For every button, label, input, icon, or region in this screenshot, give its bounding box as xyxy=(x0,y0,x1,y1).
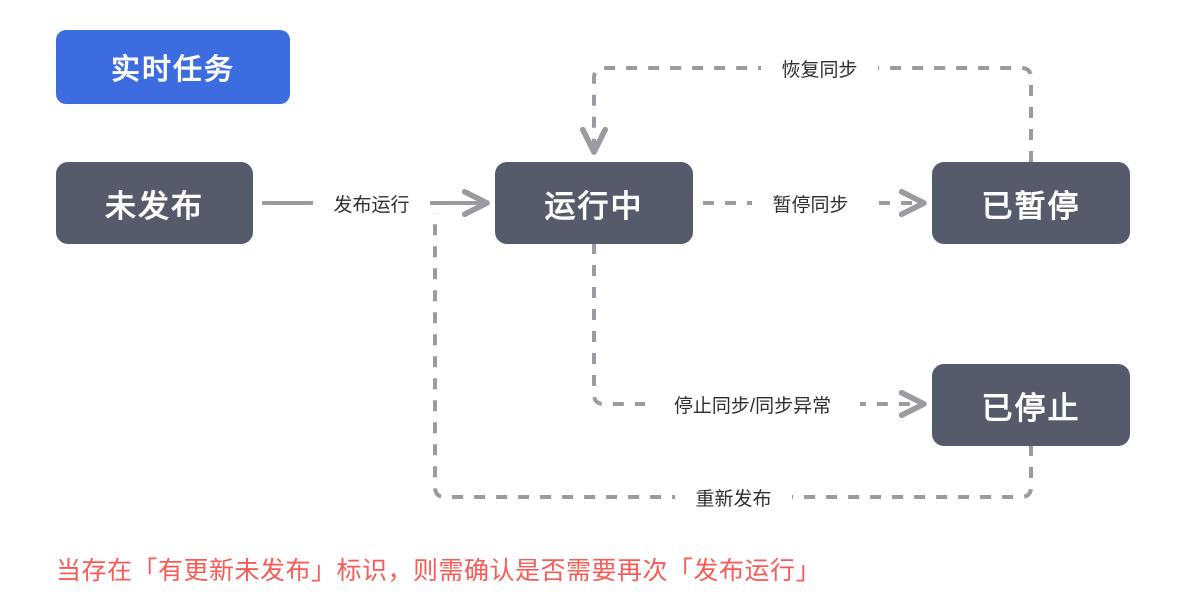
edge-republish xyxy=(435,213,1031,497)
state-node-stopped[interactable]: 已停止 xyxy=(932,364,1130,446)
edge-resume-sync xyxy=(594,68,1031,162)
state-node-paused-label: 已暂停 xyxy=(982,181,1081,226)
state-node-unpublished[interactable]: 未发布 xyxy=(56,162,253,244)
edge-label-stop-sync: 停止同步/同步异常 xyxy=(645,391,860,417)
footnote-text: 当存在「有更新未发布」标识，则需确认是否需要再次「发布运行」 xyxy=(56,551,821,587)
state-node-stopped-label: 已停止 xyxy=(982,383,1081,428)
realtime-task-badge: 实时任务 xyxy=(56,30,290,104)
realtime-task-badge-label: 实时任务 xyxy=(111,46,235,88)
edge-label-resume-sync: 恢复同步 xyxy=(761,55,878,81)
state-node-running[interactable]: 运行中 xyxy=(495,162,693,244)
edge-stop-sync xyxy=(594,243,924,404)
edge-label-publish-run: 发布运行 xyxy=(313,190,430,216)
state-node-running-label: 运行中 xyxy=(545,181,644,226)
edge-label-pause-sync: 暂停同步 xyxy=(752,190,869,216)
state-node-paused[interactable]: 已暂停 xyxy=(932,162,1130,244)
state-node-unpublished-label: 未发布 xyxy=(105,181,204,226)
edge-label-republish: 重新发布 xyxy=(675,484,792,510)
